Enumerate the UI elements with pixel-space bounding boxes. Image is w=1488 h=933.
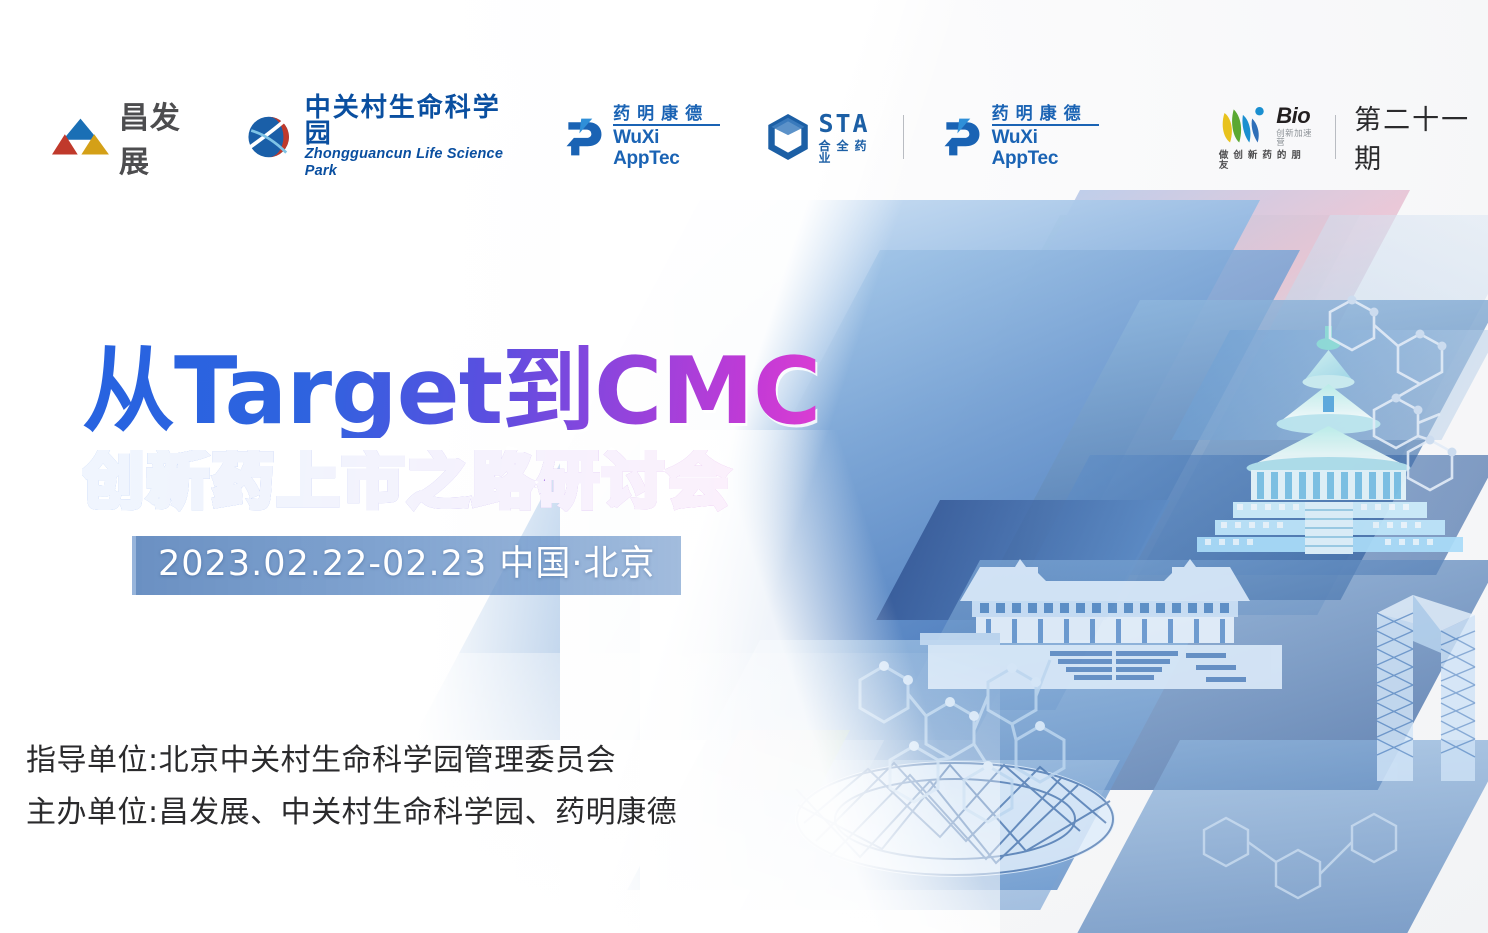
headline-block: 从Target到CMC 创新药上市之路研讨会 2023.02.22-02.23 …	[82, 345, 982, 595]
decor-parallelogram-stripe	[1026, 455, 1488, 575]
logo-sta-cn-label: 合全药业	[818, 140, 884, 164]
logo-hibio-subtitle: 做创新药的朋友	[1219, 151, 1317, 170]
logo-changfazhan: 昌发展	[52, 107, 204, 167]
three-triangles-icon	[52, 114, 109, 160]
decor-parallelogram-band	[1172, 330, 1488, 440]
wuxi-p-monogram-icon	[939, 113, 983, 161]
date-location-banner: 2023.02.22-02.23 中国·北京	[132, 536, 681, 595]
decor-parallelogram-pink	[947, 190, 1410, 440]
credit-line-guidance: 指导单位:北京中关村生命科学园管理委员会	[26, 735, 677, 787]
hi-leaves-icon	[1219, 104, 1272, 146]
logo-wuxi-apptec-second: 药明康德 WuXi AppTec	[939, 107, 1098, 167]
logo-zgc-en-label: Zhongguancun Life Science Park	[305, 146, 521, 179]
molecule-hexagons-top-right-icon	[1290, 290, 1488, 520]
sub-title: 创新药上市之路研讨会	[82, 450, 982, 512]
logo-sta-en-label: STA	[818, 111, 884, 136]
logo-sta-pharmaceutical: STA 合全药业	[766, 107, 884, 167]
decor-parallelogram-bottom-right	[1074, 740, 1488, 933]
credit-line-organizers: 主办单位:昌发展、中关村生命科学园、药明康德	[26, 787, 677, 839]
decor-parallelogram-right	[980, 300, 1488, 600]
logo-zhongguancun-life-science-park: 中关村生命科学园 Zhongguancun Life Science Park	[242, 107, 521, 167]
molecule-hexagons-center-icon	[830, 620, 1130, 860]
logo-hibio-tagline: 创新加速营	[1276, 129, 1317, 146]
logo-hibio: Bio 创新加速营 做创新药的朋友	[1219, 107, 1317, 167]
logo-changfazhan-label: 昌发展	[119, 93, 204, 181]
sponsor-logo-bar: 昌发展 中关村生命科学园 Zhongguancun Life Science P…	[0, 98, 1488, 176]
hexagon-ring-icon	[766, 113, 810, 161]
birds-nest-stadium-illustration	[790, 745, 1120, 905]
date-location-text: 2023.02.22-02.23 中国·北京	[158, 544, 655, 584]
molecule-hexagons-bottom-icon	[1180, 790, 1480, 933]
logo-divider-1	[903, 115, 904, 159]
credits-block: 指导单位:北京中关村生命科学园管理委员会 主办单位:昌发展、中关村生命科学园、药…	[26, 735, 677, 838]
logo-wuxi-cn-label: 药明康德	[613, 105, 720, 126]
globe-swoosh-icon	[242, 110, 295, 164]
logo-wuxi-en-label: WuXi AppTec	[613, 128, 720, 170]
event-poster: 昌发展 中关村生命科学园 Zhongguancun Life Science P…	[0, 0, 1488, 933]
logo-wuxi2-cn-label: 药明康德	[992, 105, 1099, 126]
logo-zgc-cn-label: 中关村生命科学园	[305, 94, 521, 146]
decor-parallelogram-teal	[996, 215, 1360, 335]
decor-parallelogram-pale	[1117, 215, 1488, 615]
cctv-headquarters-illustration	[1355, 585, 1488, 785]
issue-number-label: 第二十一期	[1354, 98, 1488, 176]
decor-parallelogram-lower-mid	[627, 640, 1190, 890]
logo-hibio-bio-label: Bio	[1276, 105, 1317, 127]
logo-divider-2	[1335, 115, 1336, 159]
decor-parallelogram-bottom	[740, 760, 1120, 910]
wuxi-p-monogram-icon	[561, 113, 605, 161]
decor-parallelogram-accent	[708, 730, 850, 790]
logo-wuxi-apptec-first: 药明康德 WuXi AppTec	[561, 107, 720, 167]
logo-wuxi2-en-label: WuXi AppTec	[992, 128, 1099, 170]
temple-of-heaven-illustration	[1185, 320, 1475, 570]
main-title: 从Target到CMC	[82, 345, 982, 438]
decor-parallelogram-lower-right	[858, 560, 1488, 790]
